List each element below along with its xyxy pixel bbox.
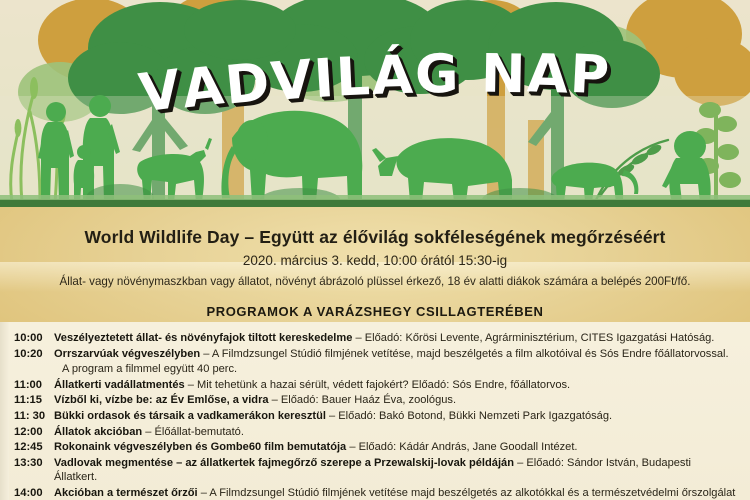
schedule-title: Vadlovak megmentése – az állatkertek faj… — [54, 457, 514, 469]
schedule-title: Bükki ordasok és társaik a vadkamerákon … — [54, 410, 326, 422]
schedule-row: 11:00Állatkerti vadállatmentés – Mit teh… — [0, 378, 750, 393]
schedule-time: 10:20 — [14, 347, 54, 362]
schedule-description: Veszélyeztetett állat- és növényfajok ti… — [54, 331, 736, 346]
schedule-description: Vízből ki, vízbe be: az Év Emlőse, a vid… — [54, 393, 736, 408]
schedule-description: Akcióban a természet őrzői – A Filmdzsun… — [54, 486, 736, 500]
ground-strip — [0, 199, 750, 207]
left-edge-shade — [0, 322, 9, 500]
event-subtitle: World Wildlife Day – Együtt az élővilág … — [0, 227, 750, 248]
schedule-row: 12:00Állatok akcióban – Élőállat-bemutat… — [0, 425, 750, 440]
schedule-row: 14:00Akcióban a természet őrzői – A Film… — [0, 486, 750, 500]
admission-note: Állat- vagy növénymaszkban vagy állatot,… — [0, 275, 750, 288]
schedule-title: Veszélyeztetett állat- és növényfajok ti… — [54, 332, 352, 344]
schedule-continuation: A program a filmmel együtt 40 perc. — [0, 362, 750, 377]
schedule-description: Vadlovak megmentése – az állatkertek faj… — [54, 456, 736, 485]
schedule-title: Rokonaink végveszélyben és Gombe60 film … — [54, 441, 346, 453]
schedule-description: Orrszarvúak végveszélyben – A Filmdzsung… — [54, 347, 736, 362]
schedule-time: 12:00 — [14, 425, 54, 440]
gold-info-band: World Wildlife Day – Együtt az élővilág … — [0, 207, 750, 322]
schedule-description: Rokonaink végveszélyben és Gombe60 film … — [54, 440, 736, 455]
schedule-title: Állatkerti vadállatmentés — [54, 379, 185, 391]
schedule-title: Akcióban a természet őrzői — [54, 487, 198, 499]
schedule-description: Állatkerti vadállatmentés – Mit tehetünk… — [54, 378, 736, 393]
schedule-row: 13:30Vadlovak megmentése – az állatkerte… — [0, 456, 750, 485]
schedule-time: 11:00 — [14, 378, 54, 393]
schedule-time: 10:00 — [14, 331, 54, 346]
schedule-row: 10:20Orrszarvúak végveszélyben – A Filmd… — [0, 347, 750, 362]
program-schedule: 10:00Veszélyeztetett állat- és növényfaj… — [0, 322, 750, 500]
schedule-description: Bükki ordasok és társaik a vadkamerákon … — [54, 409, 736, 424]
poster: VADVILÁG NAP World Wildlife Day – Együtt… — [0, 0, 750, 500]
schedule-title: Vízből ki, vízbe be: az Év Emlőse, a vid… — [54, 394, 269, 406]
schedule-row: 11: 30Bükki ordasok és társaik a vadkame… — [0, 409, 750, 424]
schedule-time: 12:45 — [14, 440, 54, 455]
wildlife-scene-svg — [0, 0, 750, 207]
schedule-row: 11:15Vízből ki, vízbe be: az Év Emlőse, … — [0, 393, 750, 408]
schedule-row: 12:45Rokonaink végveszélyben és Gombe60 … — [0, 440, 750, 455]
schedule-time: 11: 30 — [14, 409, 54, 424]
event-date: 2020. március 3. kedd, 10:00 órától 15:3… — [0, 253, 750, 268]
schedule-description: Állatok akcióban – Élőállat-bemutató. — [54, 425, 736, 440]
schedule-time: 11:15 — [14, 393, 54, 408]
schedule-row: 10:00Veszélyeztetett állat- és növényfaj… — [0, 331, 750, 346]
banner-illustration: VADVILÁG NAP — [0, 0, 750, 207]
schedule-title: Állatok akcióban — [54, 426, 142, 438]
program-heading: PROGRAMOK A VARÁZSHEGY CSILLAGTERÉBEN — [0, 304, 750, 319]
schedule-time: 14:00 — [14, 486, 54, 500]
schedule-title: Orrszarvúak végveszélyben — [54, 348, 200, 360]
schedule-time: 13:30 — [14, 456, 54, 471]
